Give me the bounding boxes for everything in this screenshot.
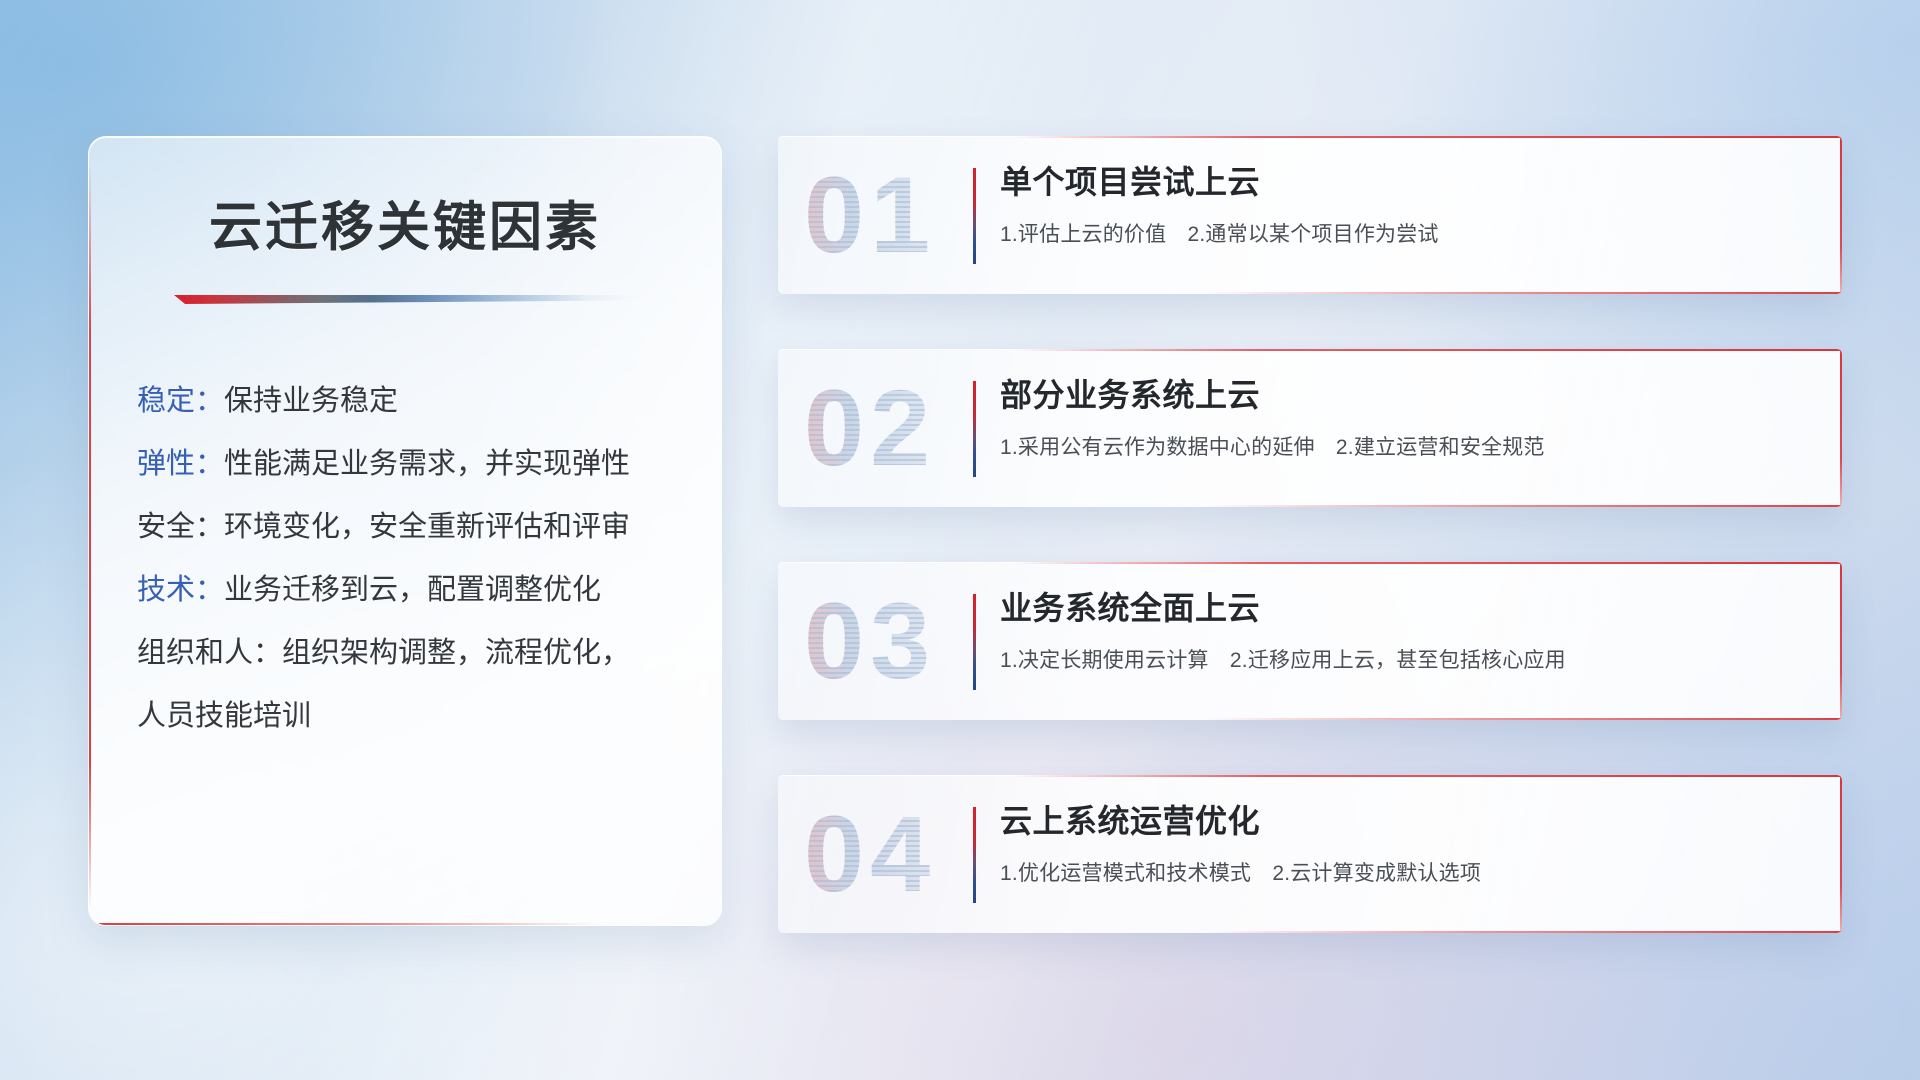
factor-text: 保持业务稳定 [224,385,398,417]
card-accent-bar [973,381,976,477]
title-rule-bar [174,295,636,304]
list-item: 技术：业务迁移到云，配置调整优化 [137,559,675,622]
list-item: 安全：环境变化，安全重新评估和评审 [137,496,675,559]
card-body: 云上系统运营优化 1.优化运营模式和技术模式 2.云计算变成默认选项 [1000,801,1814,887]
factor-label: 弹性： [137,448,224,480]
card-title: 业务系统全面上云 [1000,588,1814,628]
stage-number: 03 [804,587,936,695]
factor-label: 安全： [137,511,224,543]
card-top-accent-line [1012,562,1842,564]
card-top-accent-line [1012,136,1842,138]
stage-card-02[interactable]: 02 部分业务系统上云 1.采用公有云作为数据中心的延伸 2.建立运营和安全规范 [778,349,1842,507]
card-right-accent-line [1840,562,1842,720]
stage-card-01[interactable]: 01 单个项目尝试上云 1.评估上云的价值 2.通常以某个项目作为尝试 [778,136,1842,294]
stage-number: 02 [804,374,936,482]
factor-label: 技术： [137,574,224,606]
key-factors-panel: 云迁移关键因素 稳定：保持业务稳定 弹性：性能满足业务需求，并实现弹性 安全：环… [88,136,722,926]
stage-number: 01 [804,161,936,269]
factor-label: 稳定： [137,385,224,417]
card-body: 业务系统全面上云 1.决定长期使用云计算 2.迁移应用上云，甚至包括核心应用 [1000,588,1814,674]
card-title: 云上系统运营优化 [1000,801,1814,841]
card-right-accent-line [1840,349,1842,507]
card-body: 单个项目尝试上云 1.评估上云的价值 2.通常以某个项目作为尝试 [1000,162,1814,248]
factor-text: 业务迁移到云，配置调整优化 [224,574,601,606]
stage-card-list: 01 单个项目尝试上云 1.评估上云的价值 2.通常以某个项目作为尝试 02 部… [778,136,1842,933]
list-item: 弹性：性能满足业务需求，并实现弹性 [137,433,675,496]
card-body: 部分业务系统上云 1.采用公有云作为数据中心的延伸 2.建立运营和安全规范 [1000,375,1814,461]
card-accent-bar [973,807,976,903]
card-bottom-accent-line [1204,292,1842,294]
stage-card-03[interactable]: 03 业务系统全面上云 1.决定长期使用云计算 2.迁移应用上云，甚至包括核心应… [778,562,1842,720]
list-item: 组织和人：组织架构调整，流程优化， [137,622,675,685]
card-accent-bar [973,594,976,690]
card-subtitle: 1.优化运营模式和技术模式 2.云计算变成默认选项 [1000,857,1814,887]
factor-label: 组织和人： [137,637,282,669]
factor-text: 组织架构调整，流程优化， [282,637,630,669]
stage-number: 04 [804,800,936,908]
panel-left-accent-line [89,163,91,909]
card-bottom-accent-line [1204,505,1842,507]
slide-canvas: 云迁移关键因素 稳定：保持业务稳定 弹性：性能满足业务需求，并实现弹性 安全：环… [0,0,1920,1080]
factor-text: 环境变化，安全重新评估和评审 [224,511,630,543]
list-item: 稳定：保持业务稳定 [137,370,675,433]
card-title: 部分业务系统上云 [1000,375,1814,415]
factor-text: 性能满足业务需求，并实现弹性 [224,448,630,480]
card-right-accent-line [1840,775,1842,933]
card-top-accent-line [1012,349,1842,351]
card-accent-bar [973,168,976,264]
card-title: 单个项目尝试上云 [1000,162,1814,202]
card-subtitle: 1.评估上云的价值 2.通常以某个项目作为尝试 [1000,218,1814,248]
card-bottom-accent-line [1204,718,1842,720]
card-subtitle: 1.决定长期使用云计算 2.迁移应用上云，甚至包括核心应用 [1000,644,1814,674]
page-title: 云迁移关键因素 [89,185,721,261]
factor-text-continuation: 人员技能培训 [137,685,675,748]
card-bottom-accent-line [1204,931,1842,933]
card-top-accent-line [1012,775,1842,777]
stage-card-04[interactable]: 04 云上系统运营优化 1.优化运营模式和技术模式 2.云计算变成默认选项 [778,775,1842,933]
factor-list: 稳定：保持业务稳定 弹性：性能满足业务需求，并实现弹性 安全：环境变化，安全重新… [89,370,721,748]
panel-bottom-accent-line [91,923,601,925]
title-gradient-rule [174,295,636,304]
card-right-accent-line [1840,136,1842,294]
card-subtitle: 1.采用公有云作为数据中心的延伸 2.建立运营和安全规范 [1000,431,1814,461]
